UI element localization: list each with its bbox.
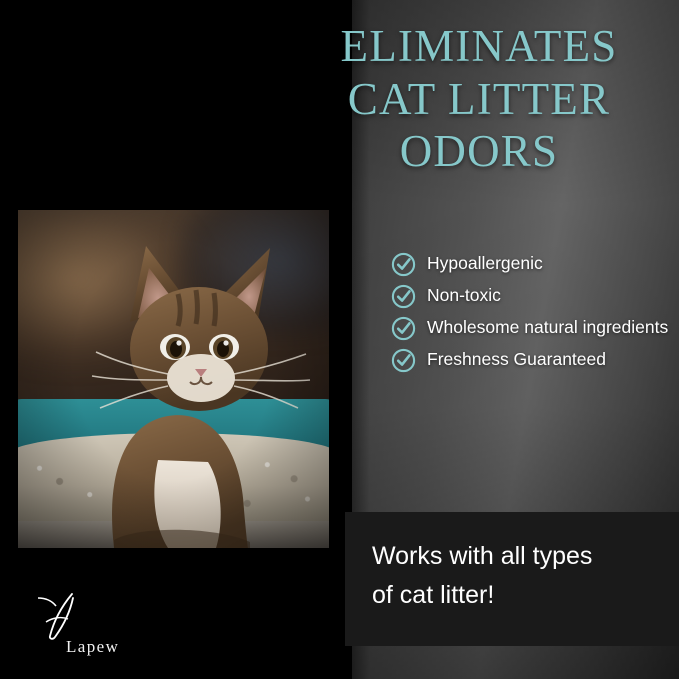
advertisement-banner: ELIMINATES CAT LITTER ODORS (0, 0, 679, 679)
list-item: Wholesome natural ingredients (391, 315, 676, 341)
feature-label: Non-toxic (427, 283, 501, 308)
headline: ELIMINATES CAT LITTER ODORS (286, 20, 672, 178)
caption-panel: Works with all types of cat litter! (345, 512, 679, 646)
check-circle-icon (391, 316, 416, 341)
brand-name: Lapew (66, 637, 119, 657)
list-item: Freshness Guaranteed (391, 347, 676, 373)
check-circle-icon (391, 284, 416, 309)
check-circle-icon (391, 252, 416, 277)
list-item: Non-toxic (391, 283, 676, 309)
caption-line-2: of cat litter! (372, 576, 662, 615)
feature-list: Hypoallergenic Non-toxic Wholesome natur… (391, 251, 676, 379)
feature-label: Freshness Guaranteed (427, 347, 606, 372)
product-photo (18, 210, 329, 548)
check-circle-icon (391, 348, 416, 373)
feature-label: Wholesome natural ingredients (427, 315, 668, 340)
headline-line-3: ODORS (286, 125, 672, 178)
kitten-illustration (18, 210, 329, 548)
list-item: Hypoallergenic (391, 251, 676, 277)
brand-logo: Lapew (32, 595, 182, 657)
headline-line-1: ELIMINATES (286, 20, 672, 73)
headline-line-2: CAT LITTER (286, 73, 672, 126)
caption-text: Works with all types of cat litter! (372, 537, 662, 615)
caption-line-1: Works with all types (372, 537, 662, 576)
feature-label: Hypoallergenic (427, 251, 543, 276)
